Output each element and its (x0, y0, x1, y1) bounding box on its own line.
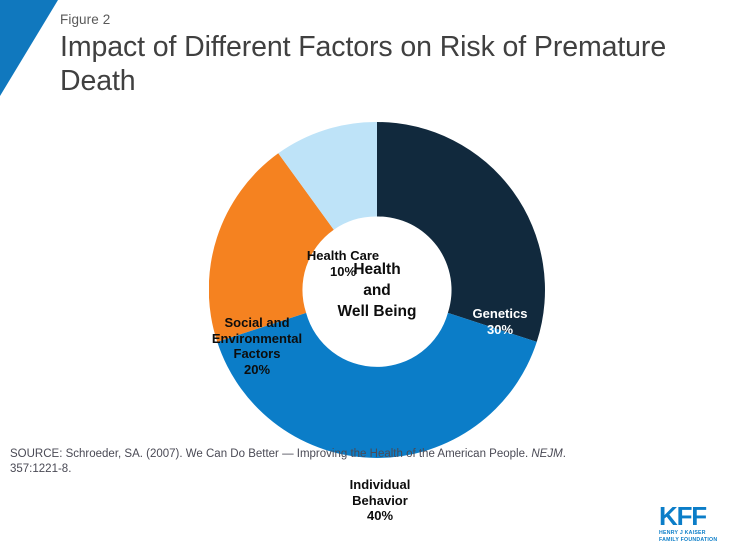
page-title: Impact of Different Factors on Risk of P… (60, 30, 700, 98)
label-genetics-value: 30% (440, 322, 560, 338)
kff-subtitle-line-2: FAMILY FOUNDATION (659, 537, 727, 543)
label-social-name-2: Environmental (196, 331, 318, 347)
donut-chart: Health and Well Being Genetics 30% Indiv… (0, 100, 735, 480)
figure-label: Figure 2 (60, 12, 700, 28)
donut-wrapper: Health and Well Being (209, 122, 545, 458)
source-citation: SOURCE: Schroeder, SA. (2007). We Can Do… (10, 447, 610, 476)
label-genetics-name: Genetics (440, 306, 560, 322)
label-genetics: Genetics 30% (440, 306, 560, 337)
label-social-environmental: Social and Environmental Factors 20% (196, 315, 318, 377)
label-health-care: Health Care 10% (283, 248, 403, 279)
kff-wordmark: KFF (659, 503, 727, 529)
slide-canvas: Figure 2 Impact of Different Factors on … (0, 0, 735, 551)
corner-accent-triangle (0, 0, 58, 96)
label-social-value: 20% (196, 362, 318, 378)
source-journal: NEJM (531, 448, 562, 460)
kff-logo: KFF HENRY J KAISER FAMILY FOUNDATION (659, 503, 727, 543)
slide-footer: SOURCE: Schroeder, SA. (2007). We Can Do… (0, 491, 735, 551)
donut-svg (209, 122, 545, 458)
source-prefix: SOURCE: Schroeder, SA. (2007). We Can Do… (10, 448, 531, 460)
label-social-name-3: Factors (196, 346, 318, 362)
label-social-name-1: Social and (196, 315, 318, 331)
kff-subtitle-line-1: HENRY J KAISER (659, 530, 727, 536)
label-healthcare-value: 10% (283, 264, 403, 280)
slide-header: Figure 2 Impact of Different Factors on … (60, 12, 700, 98)
label-healthcare-name: Health Care (283, 248, 403, 264)
